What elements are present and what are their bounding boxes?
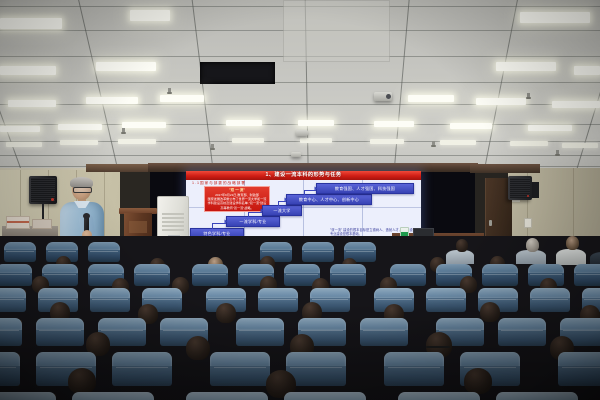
ceiling-air-vent [283, 0, 390, 62]
glasses-icon [426, 346, 450, 348]
storage-box [6, 216, 30, 229]
audience-head [456, 239, 468, 252]
sprinkler-head [527, 93, 530, 98]
wall-speaker [508, 176, 532, 200]
flow-step-5: 教育强国、人才强国、科技强国 [316, 183, 414, 194]
ceiling-projector [374, 92, 392, 101]
flow-step-3: 一流大学 [262, 205, 302, 216]
led-video-wall: 1、建设一流本科的形势与任务 1 . 1 国 家 与 部 委 的 战 略 部 署… [186, 171, 421, 243]
seat[interactable] [72, 392, 154, 400]
audience-head [480, 302, 500, 322]
sprinkler-head [556, 150, 559, 155]
audience-head [216, 303, 236, 323]
seat[interactable] [186, 392, 268, 400]
ceiling-opening [200, 62, 275, 84]
pa-speaker [29, 176, 57, 204]
audience-head [566, 236, 579, 250]
slide-title: 1、建设一流本科的形势与任务 [186, 171, 421, 180]
ceiling-speaker [296, 130, 308, 136]
audience-seating [0, 236, 600, 400]
wood-valance-left [86, 164, 150, 172]
seat[interactable] [284, 392, 366, 400]
flow-step-2: 一流学科/专业 [226, 216, 280, 227]
wall-outlet [524, 218, 532, 228]
flow-step-4: 教育中心、人才中心、创新中心 [286, 194, 372, 205]
door-knob[interactable] [489, 220, 492, 226]
audience-head [186, 336, 210, 360]
audience-head [68, 368, 96, 394]
flow-arrow-head [315, 187, 318, 191]
seat[interactable] [0, 392, 56, 400]
red-callout-line: 高等教育"双一流"战略。 [205, 206, 269, 210]
lectern-panel [129, 221, 147, 233]
wood-valance-right [470, 164, 540, 173]
red-callout-line: 学科建设高校及建设学科名单,"双一流"建设 [205, 201, 269, 205]
suspended-ceiling [0, 0, 600, 182]
sprinkler-head [122, 128, 125, 133]
flow-arrow-head [225, 220, 228, 224]
audience-head [526, 238, 539, 252]
flow-arrow-head [261, 209, 264, 213]
seat[interactable] [398, 392, 480, 400]
audience-head [464, 368, 492, 394]
sprinkler-head [168, 88, 171, 93]
sprinkler-head [432, 141, 435, 146]
conference-hall-photo: 1、建设一流本科的形势与任务 1 . 1 国 家 与 部 委 的 战 略 部 署… [0, 0, 600, 400]
speaker-led-icon [527, 195, 530, 198]
flow-arrow-head [285, 198, 288, 202]
sprinkler-head [211, 144, 214, 149]
seat[interactable] [496, 392, 578, 400]
storage-box [32, 219, 52, 229]
seat-row [0, 368, 600, 400]
glasses-icon [73, 187, 92, 193]
ceiling-speaker [291, 152, 301, 157]
